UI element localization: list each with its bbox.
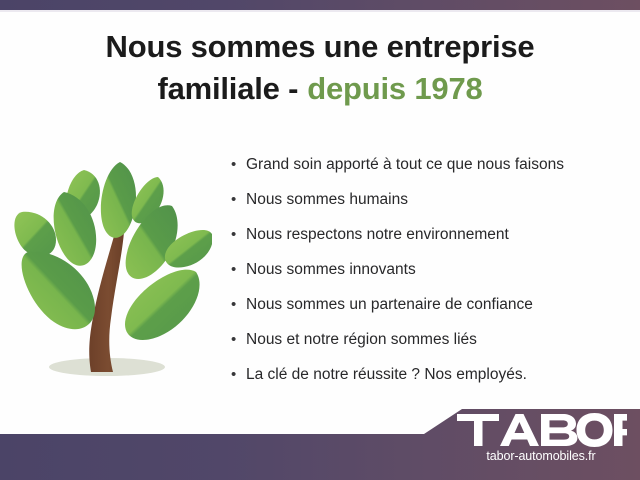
list-item-label: Nous et notre région sommes liés — [246, 331, 477, 348]
tabor-wordmark-icon — [455, 412, 627, 448]
list-item-label: Nous respectons notre environnement — [246, 226, 509, 243]
bullet-dot-icon: • — [231, 147, 236, 182]
list-item: • Nous respectons notre environnement — [228, 217, 628, 252]
tabor-logo-url[interactable]: tabor-automobiles.fr — [455, 449, 627, 463]
bullet-dot-icon: • — [231, 357, 236, 392]
heading-line-2: familiale -depuis 1978 — [0, 68, 640, 110]
bullet-dot-icon: • — [231, 287, 236, 322]
values-bullet-list: • Grand soin apporté à tout ce que nous … — [228, 147, 628, 392]
heading-line-2-prefix: familiale - — [157, 71, 298, 106]
bullet-dot-icon: • — [231, 182, 236, 217]
list-item-label: Nous sommes humains — [246, 191, 408, 208]
list-item: • Grand soin apporté à tout ce que nous … — [228, 147, 628, 182]
bullet-dot-icon: • — [231, 217, 236, 252]
tree-leaf-9 — [125, 270, 200, 340]
list-item-label: Nous sommes innovants — [246, 261, 416, 278]
list-item: • La clé de notre réussite ? Nos employé… — [228, 357, 628, 392]
list-item-label: Nous sommes un partenaire de confiance — [246, 296, 533, 313]
slide-canvas: Nous sommes une entreprise familiale -de… — [0, 0, 640, 480]
list-item: • Nous sommes un partenaire de confiance — [228, 287, 628, 322]
list-item: • Nous sommes humains — [228, 182, 628, 217]
list-item: • Nous et notre région sommes liés — [228, 322, 628, 357]
list-item-label: Grand soin apporté à tout ce que nous fa… — [246, 156, 564, 173]
bullet-dot-icon: • — [231, 322, 236, 357]
heading-line-1: Nous sommes une entreprise — [0, 26, 640, 68]
slide-heading: Nous sommes une entreprise familiale -de… — [0, 26, 640, 109]
tree-leaf-2 — [101, 162, 136, 238]
tree-leaf-5 — [14, 212, 56, 257]
list-item: • Nous sommes innovants — [228, 252, 628, 287]
family-tree-illustration — [12, 148, 212, 388]
top-accent-bar — [0, 0, 640, 10]
heading-accent-text: depuis 1978 — [307, 71, 482, 106]
tabor-logo[interactable]: tabor-automobiles.fr — [455, 412, 630, 470]
bullet-dot-icon: • — [231, 252, 236, 287]
list-item-label: La clé de notre réussite ? Nos employés. — [246, 366, 527, 383]
top-accent-hairline — [0, 10, 640, 12]
